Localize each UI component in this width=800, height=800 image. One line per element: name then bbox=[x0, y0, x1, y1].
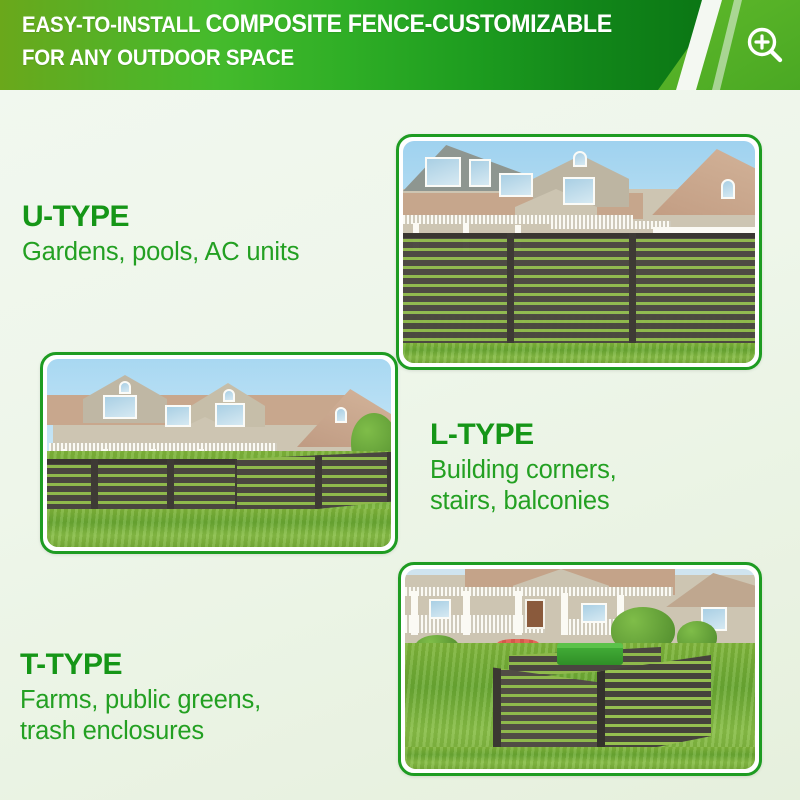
feature-description-u-type: Gardens, pools, AC units bbox=[22, 237, 382, 268]
slat-fence bbox=[403, 233, 755, 353]
infographic-page: EASY-TO-INSTALL COMPOSITE FENCE-CUSTOMIZ… bbox=[0, 0, 800, 800]
feature-photo-card-l-type[interactable] bbox=[40, 352, 398, 554]
feature-title-u-type: U-TYPE bbox=[22, 200, 382, 234]
porch-column bbox=[411, 591, 418, 635]
fence-post bbox=[315, 451, 322, 517]
header-title-lead: EASY-TO-INSTALL bbox=[22, 12, 205, 37]
fence-cap bbox=[47, 459, 243, 464]
utility-box bbox=[557, 643, 623, 665]
window bbox=[103, 395, 137, 419]
window bbox=[721, 179, 735, 199]
window bbox=[165, 405, 191, 427]
porch-column bbox=[561, 593, 568, 635]
grass-foreground bbox=[403, 343, 755, 363]
photo-t-type bbox=[405, 569, 755, 769]
window-arched bbox=[223, 389, 235, 402]
fence-slats bbox=[403, 233, 755, 353]
porch-column bbox=[463, 591, 470, 635]
feature-text-l-type: L-TYPE Building corners, stairs, balconi… bbox=[430, 418, 770, 517]
feature-description-l-type-line2: stairs, balconies bbox=[430, 486, 770, 517]
feature-description-l-type-line1: Building corners, bbox=[430, 455, 770, 486]
porch-railing bbox=[405, 615, 545, 633]
porch-trim bbox=[49, 443, 277, 451]
window bbox=[581, 603, 607, 623]
window-arched bbox=[335, 407, 347, 423]
window bbox=[563, 177, 595, 205]
feature-photo-card-t-type[interactable] bbox=[398, 562, 762, 776]
porch-trim bbox=[405, 587, 673, 596]
window-arched bbox=[119, 381, 131, 394]
photo-l-type bbox=[47, 359, 391, 547]
window bbox=[499, 173, 533, 197]
feature-photo-card-u-type[interactable] bbox=[396, 134, 762, 370]
header-title: EASY-TO-INSTALL COMPOSITE FENCE-CUSTOMIZ… bbox=[22, 8, 617, 74]
header-title-line2: FOR ANY OUTDOOR SPACE bbox=[22, 41, 617, 74]
photo-u-type bbox=[403, 141, 755, 363]
feature-title-t-type: T-TYPE bbox=[20, 648, 390, 682]
porch-column bbox=[515, 591, 522, 635]
feature-title-l-type: L-TYPE bbox=[430, 418, 770, 452]
header-title-emphasis: COMPOSITE FENCE-CUSTOMIZABLE bbox=[205, 10, 611, 38]
feature-description-t-type-line2: trash enclosures bbox=[20, 716, 390, 747]
feature-text-u-type: U-TYPE Gardens, pools, AC units bbox=[22, 200, 382, 268]
header-title-line1: EASY-TO-INSTALL COMPOSITE FENCE-CUSTOMIZ… bbox=[22, 8, 617, 41]
fence-cap bbox=[403, 233, 755, 238]
feature-text-t-type: T-TYPE Farms, public greens, trash enclo… bbox=[20, 648, 390, 747]
feature-description-t-type-line1: Farms, public greens, bbox=[20, 685, 390, 716]
front-door bbox=[525, 599, 545, 629]
window bbox=[215, 403, 245, 427]
fence-post bbox=[507, 233, 514, 353]
grass-foreground bbox=[47, 509, 391, 547]
window-arched bbox=[573, 151, 587, 167]
window bbox=[425, 157, 461, 187]
window bbox=[469, 159, 491, 187]
fence-post bbox=[629, 233, 636, 353]
zoom-in-magnifier-icon[interactable] bbox=[744, 24, 786, 66]
grass-foreground bbox=[405, 747, 755, 769]
window bbox=[429, 599, 451, 619]
header-banner: EASY-TO-INSTALL COMPOSITE FENCE-CUSTOMIZ… bbox=[0, 0, 800, 90]
